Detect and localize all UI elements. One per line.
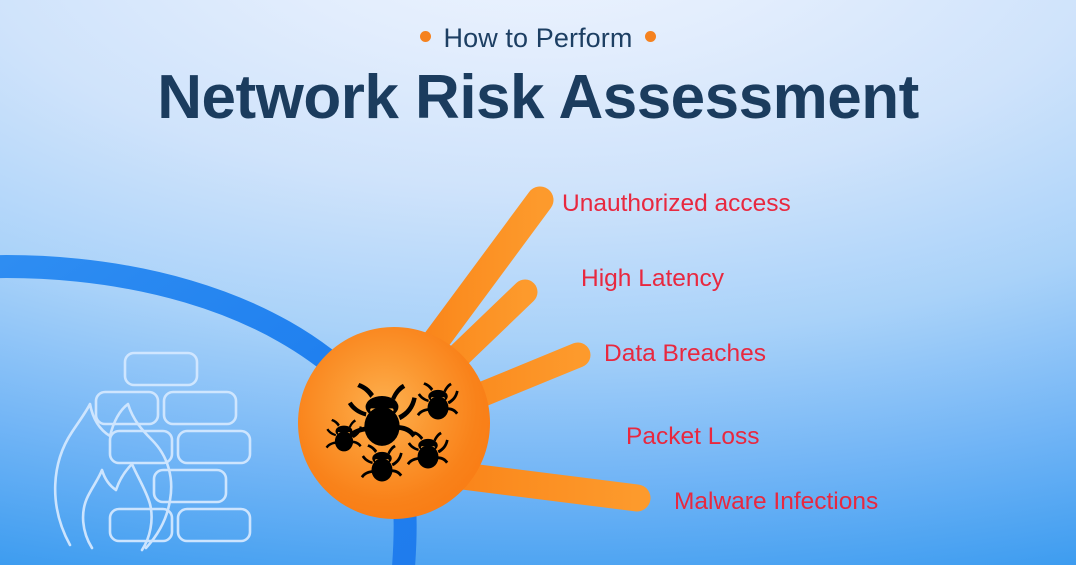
risk-label-1: Unauthorized access [562, 192, 791, 217]
risk-label-5: Malware Infections [674, 490, 878, 515]
eyebrow: How to Perform [0, 22, 1076, 54]
risk-label-2: High Latency [581, 267, 724, 292]
firewall-flame-brick-icon [55, 353, 250, 550]
infographic-canvas: How to Perform Network Risk Assessment U… [0, 0, 1076, 565]
risk-label-3: Data Breaches [604, 342, 766, 367]
bullet-dot-left-icon [420, 31, 431, 42]
page-title: Network Risk Assessment [0, 62, 1076, 133]
bullet-dot-right-icon [645, 31, 656, 42]
risk-label-4: Packet Loss [626, 425, 759, 450]
eyebrow-text: How to Perform [444, 23, 633, 54]
